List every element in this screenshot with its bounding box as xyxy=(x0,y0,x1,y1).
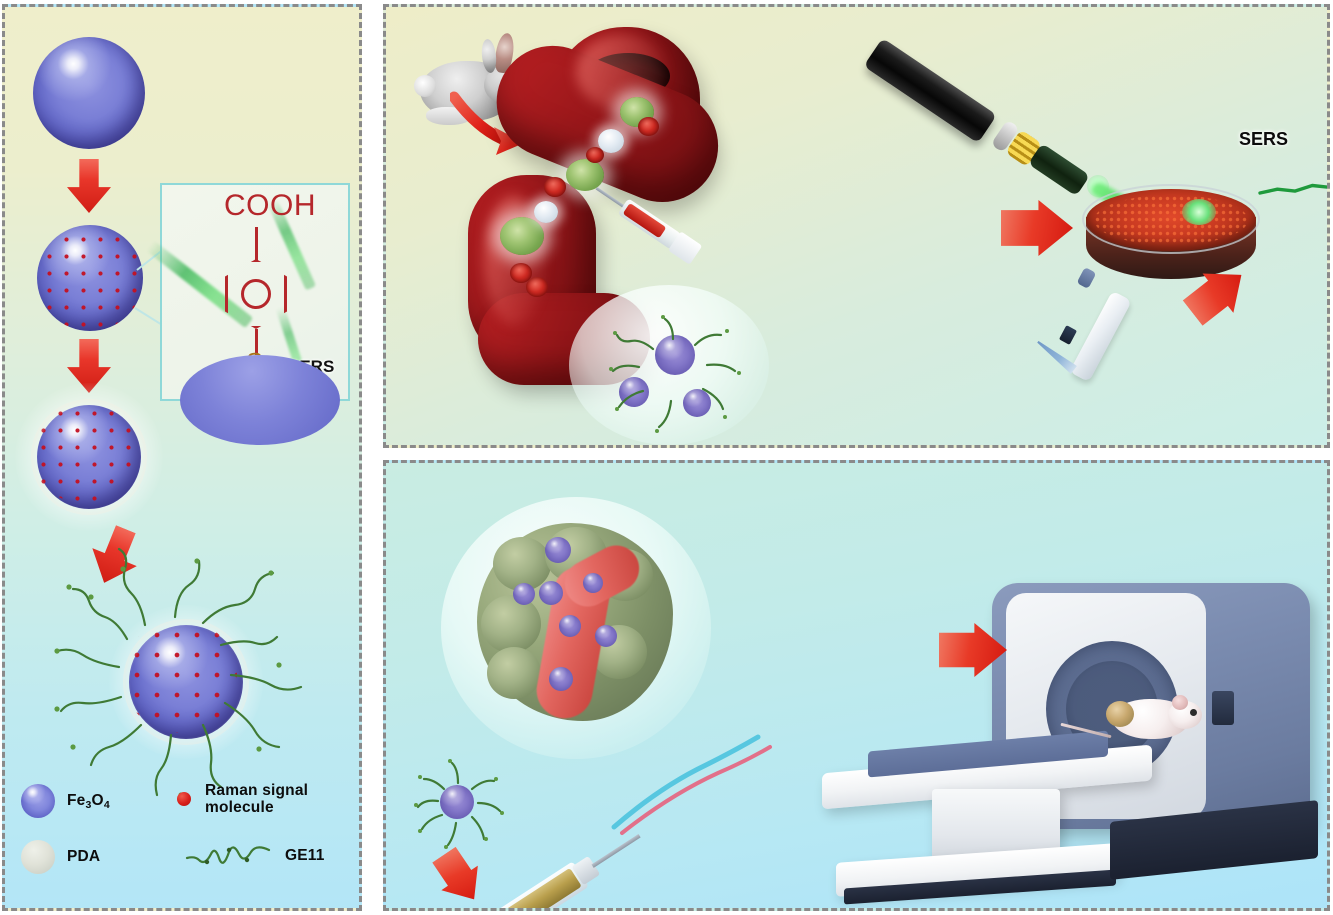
raman-reporter-inset: COOH S SERS xyxy=(160,183,350,401)
red-blood-cell xyxy=(638,117,659,136)
legend-item-fe3o4: Fe3O4 xyxy=(21,784,110,818)
legend-label-pda: PDA xyxy=(67,848,100,865)
red-blood-cell xyxy=(544,177,566,197)
tumor-bearing-mouse xyxy=(1086,685,1206,765)
synthesis-arrow-2 xyxy=(67,339,111,393)
nanoparticle-pda-coated xyxy=(31,399,147,515)
nanoprobe-particle xyxy=(619,377,649,407)
red-blood-cell xyxy=(586,147,604,163)
syringe-nanoprobe-fluid xyxy=(506,868,582,911)
sers-label-panel-b: SERS xyxy=(1239,129,1288,150)
figure-root: COOH S SERS Fe3O4 Raman signal molecule xyxy=(0,0,1333,915)
targeted-nanoprobe xyxy=(513,583,535,605)
syringe-needle xyxy=(596,187,626,208)
raman-dot-swatch-icon xyxy=(177,792,191,806)
nanoprobe-particle xyxy=(683,389,711,417)
bond-cooh-ring xyxy=(255,227,258,261)
panel-b-sers-detection: SERS xyxy=(383,4,1330,448)
targeted-nanoprobe xyxy=(539,581,563,605)
panel-c-mri-imaging xyxy=(383,460,1330,911)
injection-tubing xyxy=(608,711,808,841)
laser-body xyxy=(863,38,996,143)
laser-emitter-barrel xyxy=(1028,143,1090,196)
arrow-nanoprobe-to-syringe xyxy=(426,842,493,911)
nanoparticle-fe3o4-core xyxy=(33,37,145,149)
legend-label-ge11: GE11 xyxy=(285,847,325,864)
nanoprobe-ge11-final xyxy=(123,619,249,745)
mri-scanner xyxy=(810,583,1320,903)
targeted-nanoprobe xyxy=(595,625,617,647)
mouse-tumor xyxy=(1106,701,1134,727)
targeted-nanoprobe xyxy=(545,537,571,563)
legend-item-ge11: GE11 xyxy=(185,842,325,870)
tumor-lobe xyxy=(487,647,541,699)
mouse-ear-icon xyxy=(1172,695,1188,710)
benzene-aromatic-circle xyxy=(241,279,271,309)
petri-dish-rim xyxy=(1082,184,1260,254)
cooh-group-label: COOH xyxy=(224,189,316,223)
nanoparticle-raman-labeled xyxy=(37,225,143,331)
mouse-eye-icon xyxy=(1190,709,1197,716)
pipette-tip xyxy=(1035,338,1077,374)
pda-swatch-icon xyxy=(21,840,55,874)
scanner-control-panel xyxy=(1212,691,1234,725)
petri-laser-spot xyxy=(1182,199,1216,225)
fe3o4-swatch-icon xyxy=(21,784,55,818)
white-blood-cell xyxy=(534,201,558,223)
nanoprobe-cluster-bubble xyxy=(569,285,789,448)
circulating-tumor-cell xyxy=(500,217,544,255)
nanoparticle-surface xyxy=(180,355,340,445)
synthesis-arrow-1 xyxy=(67,159,111,213)
sers-spectrum-chart xyxy=(1254,29,1330,199)
targeted-nanoprobe xyxy=(559,615,581,637)
pipette-volume-window xyxy=(1059,325,1077,345)
legend-label-raman: Raman signal molecule xyxy=(205,782,308,817)
legend-label-fe3o4: Fe3O4 xyxy=(67,792,110,809)
nanoprobe-particle xyxy=(655,335,695,375)
legend-item-pda: PDA xyxy=(21,840,100,874)
panel-a-synthesis: COOH S SERS Fe3O4 Raman signal molecule xyxy=(2,4,362,911)
legend-item-raman: Raman signal molecule xyxy=(177,782,308,817)
ge11-swatch-icon xyxy=(185,842,271,870)
nanoprobe-particle xyxy=(440,785,474,819)
targeted-nanoprobe xyxy=(549,667,573,691)
vessel-highlight xyxy=(576,35,666,109)
targeted-nanoprobe xyxy=(583,573,603,593)
sers-spectrum-trace xyxy=(1254,29,1330,199)
synthesis-arrow-3 xyxy=(82,520,148,592)
free-nanoprobe-illustration xyxy=(408,755,508,851)
tumor-lobe xyxy=(481,595,541,653)
legend: Fe3O4 Raman signal molecule PDA xyxy=(17,780,353,890)
